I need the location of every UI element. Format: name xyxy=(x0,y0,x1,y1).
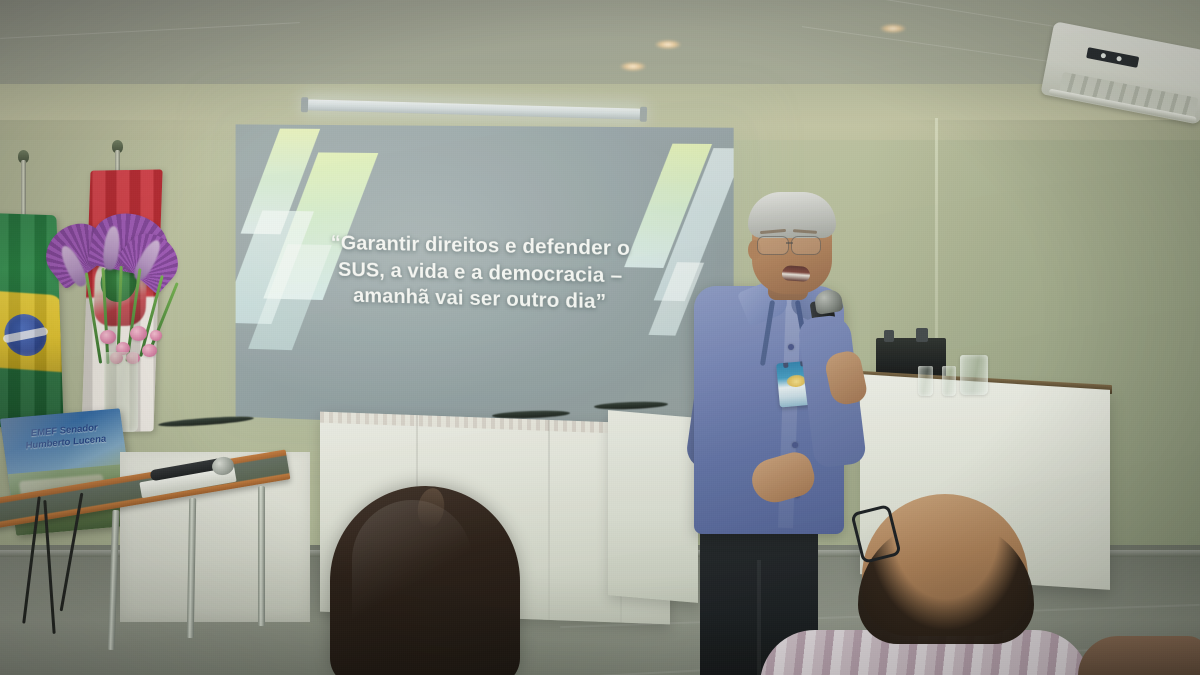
hair-highlight xyxy=(352,500,472,650)
head-table-section xyxy=(608,410,698,603)
ac-led xyxy=(1100,53,1106,59)
speaker-mouth xyxy=(782,265,811,282)
ceiling xyxy=(0,0,1200,96)
projection-screen: “Garantir direitos e defender o SUS, a v… xyxy=(236,124,734,436)
flower-bloom xyxy=(150,330,162,341)
pitcher-icon xyxy=(960,355,988,395)
speaker-trouser-seam xyxy=(757,560,761,675)
photo-scene: “Garantir direitos e defender o SUS, a v… xyxy=(0,0,1200,675)
shirt-button xyxy=(788,344,794,350)
flower-bloom xyxy=(142,344,157,357)
audience-member-far-right xyxy=(1078,636,1200,675)
ceiling-light-icon xyxy=(655,40,681,49)
shirt-button xyxy=(792,442,798,448)
tube-end-cap xyxy=(640,107,647,122)
slide-quote: “Garantir direitos e defender o SUS, a v… xyxy=(274,229,692,318)
eyeglasses-icon xyxy=(791,236,821,255)
drinking-glass-icon xyxy=(942,366,956,396)
eyeglasses-icon xyxy=(757,236,789,255)
ceiling-light-icon xyxy=(620,62,646,71)
equipment-knob xyxy=(884,330,894,342)
tube-end-cap xyxy=(301,97,308,112)
ceiling-light-icon xyxy=(880,24,906,33)
desk-leg xyxy=(258,486,265,626)
equipment-knob xyxy=(916,328,928,342)
eyeglasses-bridge xyxy=(786,242,793,244)
ac-led xyxy=(1116,56,1122,62)
flower-bloom xyxy=(130,326,147,341)
tablecloth-fold xyxy=(548,420,550,620)
drinking-glass-icon xyxy=(918,366,933,396)
flower-bloom xyxy=(100,330,116,344)
